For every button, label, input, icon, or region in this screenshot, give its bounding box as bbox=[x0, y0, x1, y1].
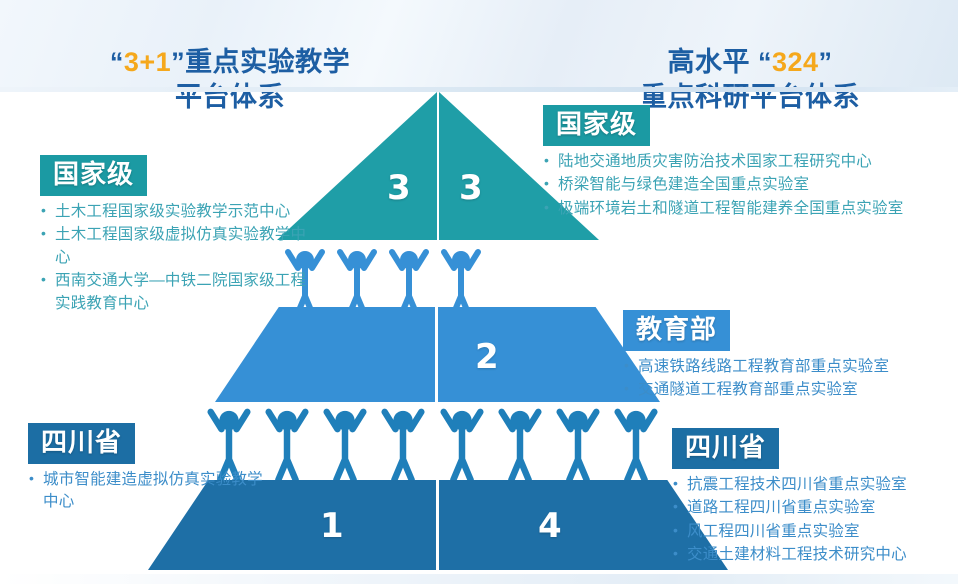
list-item: 土木工程国家级实验教学示范中心 bbox=[40, 201, 312, 223]
list-item: 极端环境岩土和隧道工程智能建养全国重点实验室 bbox=[543, 198, 943, 220]
item-list-national-right: 陆地交通地质灾害防治技术国家工程研究中心 桥梁智能与绿色建造全国重点实验室 极端… bbox=[543, 151, 943, 220]
list-item: 交通隧道工程教育部重点实验室 bbox=[623, 379, 943, 401]
list-item: 高速铁路线路工程教育部重点实验室 bbox=[623, 356, 943, 378]
list-item: 桥梁智能与绿色建造全国重点实验室 bbox=[543, 174, 943, 196]
category-badge-national-left: 国家级 bbox=[40, 155, 147, 196]
title-left-pre: “ bbox=[110, 47, 124, 77]
stick-figure-icon bbox=[379, 399, 427, 488]
list-item: 陆地交通地质灾害防治技术国家工程研究中心 bbox=[543, 151, 943, 173]
category-badge-sichuan-right: 四川省 bbox=[672, 428, 779, 469]
list-item: 风工程四川省重点实验室 bbox=[672, 521, 952, 543]
category-badge-national-right: 国家级 bbox=[543, 105, 650, 146]
item-list-sichuan-right: 抗震工程技术四川省重点实验室 道路工程四川省重点实验室 风工程四川省重点实验室 … bbox=[672, 474, 952, 567]
title-right-highlight: 324 bbox=[772, 47, 819, 77]
title-right-pre: 高水平 “ bbox=[667, 47, 772, 77]
category-badge-ministry-of-education: 教育部 bbox=[623, 310, 730, 351]
list-item: 抗震工程技术四川省重点实验室 bbox=[672, 474, 952, 496]
category-badge-sichuan-left: 四川省 bbox=[28, 423, 135, 464]
tier-bottom-left-number: 1 bbox=[320, 506, 344, 546]
slide-root: “3+1”重点实验教学 平台体系 高水平 “324” 重点科研平台体系 3 3 bbox=[0, 0, 958, 584]
item-list-ministry-of-education: 高速铁路线路工程教育部重点实验室 交通隧道工程教育部重点实验室 bbox=[623, 356, 943, 402]
stick-figure-icon bbox=[438, 399, 486, 488]
stick-figure-icon bbox=[612, 399, 660, 488]
pyramid-tier-middle-left-half bbox=[215, 307, 435, 402]
tier-bottom-right-number: 4 bbox=[538, 506, 562, 546]
tier-top-left-number: 3 bbox=[387, 168, 411, 208]
title-left-highlight: 3+1 bbox=[124, 47, 171, 77]
stick-figure-icon bbox=[554, 399, 602, 488]
list-item: 西南交通大学—中铁二院国家级工程实践教育中心 bbox=[40, 270, 312, 315]
item-list-national-left: 土木工程国家级实验教学示范中心 土木工程国家级虚拟仿真实验教学中心 西南交通大学… bbox=[40, 201, 312, 315]
item-list-sichuan-left: 城市智能建造虚拟仿真实验教学中心 bbox=[28, 469, 278, 514]
pyramid-tier-middle: 2 bbox=[215, 307, 660, 402]
stick-figure-icon bbox=[496, 399, 544, 488]
callout-national-left: 国家级 土木工程国家级实验教学示范中心 土木工程国家级虚拟仿真实验教学中心 西南… bbox=[40, 155, 312, 316]
list-item: 土木工程国家级虚拟仿真实验教学中心 bbox=[40, 224, 312, 269]
callout-ministry-of-education: 教育部 高速铁路线路工程教育部重点实验室 交通隧道工程教育部重点实验室 bbox=[623, 310, 943, 403]
list-item: 城市智能建造虚拟仿真实验教学中心 bbox=[28, 469, 278, 514]
callout-sichuan-left: 四川省 城市智能建造虚拟仿真实验教学中心 bbox=[28, 423, 278, 515]
stick-figure-icon bbox=[321, 399, 369, 488]
list-item: 道路工程四川省重点实验室 bbox=[672, 497, 952, 519]
callout-sichuan-right: 四川省 抗震工程技术四川省重点实验室 道路工程四川省重点实验室 风工程四川省重点… bbox=[672, 428, 952, 568]
list-item: 交通土建材料工程技术研究中心 bbox=[672, 544, 952, 566]
bottom-strip bbox=[0, 574, 958, 584]
tier-middle-right-number: 2 bbox=[475, 337, 499, 377]
tier-top-right-number: 3 bbox=[459, 168, 483, 208]
callout-national-right: 国家级 陆地交通地质灾害防治技术国家工程研究中心 桥梁智能与绿色建造全国重点实验… bbox=[543, 105, 943, 221]
header-band: “3+1”重点实验教学 平台体系 高水平 “324” 重点科研平台体系 bbox=[0, 0, 958, 92]
